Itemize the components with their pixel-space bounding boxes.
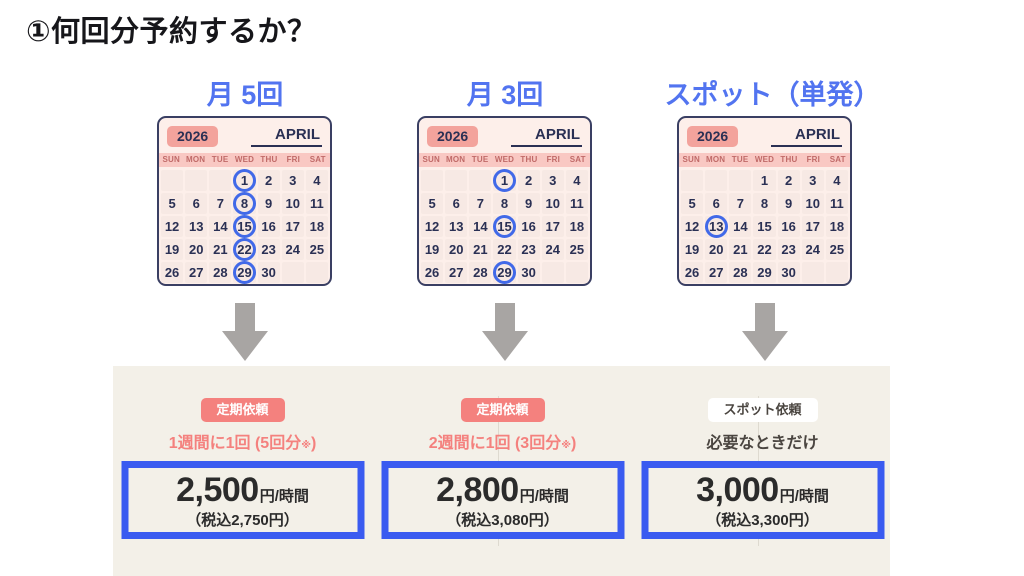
calendar-weekday: MON [703, 153, 727, 167]
calendar-day-number: 9 [525, 197, 532, 210]
calendar-day-cell[interactable]: 10 [542, 193, 564, 214]
calendar-day-number: 30 [781, 266, 795, 279]
calendar-day-grid: 1234567891011121314151617181920212223242… [159, 167, 330, 285]
calendar-day-number: 23 [781, 243, 795, 256]
calendar-day-cell[interactable]: 14 [469, 216, 491, 237]
calendar-day-number: 14 [473, 220, 487, 233]
calendar-year: 2026 [427, 126, 478, 147]
price-amount: 2,500 [176, 473, 259, 507]
calendar-day-cell[interactable]: 4 [826, 170, 848, 191]
price-inner: 3,000 円/時間 （税込3,300円） [648, 468, 877, 532]
calendar-month: APRIL [771, 127, 842, 147]
calendar-weekday: WED [752, 153, 776, 167]
calendar-day-number: 20 [709, 243, 723, 256]
calendar-day-number: 3 [809, 174, 816, 187]
calendar-day-cell[interactable]: 6 [445, 193, 467, 214]
calendar-weekday: FRI [281, 153, 305, 167]
calendar-day-cell[interactable]: 28 [209, 262, 231, 283]
calendar-day-number: 15 [757, 220, 771, 233]
calendar-day-number: 22 [497, 243, 511, 256]
calendar-day-number: 27 [709, 266, 723, 279]
plan-frequency-mark: ※ [561, 440, 571, 451]
calendar-day-number: 3 [289, 174, 296, 187]
calendar-day-number: 5 [168, 197, 175, 210]
price-tax-included: （税込3,080円） [446, 513, 559, 528]
price-box: 2,500 円/時間 （税込2,750円） [121, 461, 364, 539]
calendar-day-number: 9 [785, 197, 792, 210]
column-heading-2: スポット（単発） [650, 73, 895, 112]
calendar-day-number: 7 [217, 197, 224, 210]
calendar-day-cell[interactable]: 26 [161, 262, 183, 283]
calendar-day-number: 10 [806, 197, 820, 210]
calendar-day-cell[interactable]: 28 [469, 262, 491, 283]
calendar-day-cell[interactable]: 23 [258, 239, 280, 260]
calendar-day-number: 14 [733, 220, 747, 233]
calendar-day-cell[interactable]: 8 [753, 193, 775, 214]
price-tax-included: （税込2,750円） [186, 513, 299, 528]
calendar-day-number: 27 [189, 266, 203, 279]
calendar-day-cell[interactable]: 21 [209, 239, 231, 260]
calendar-day-cell[interactable]: 6 [705, 193, 727, 214]
calendar-month: APRIL [511, 127, 582, 147]
calendar-day-cell[interactable]: 25 [306, 239, 328, 260]
calendar-day-cell[interactable]: 8 [233, 193, 255, 214]
calendar-day-cell[interactable]: 12 [681, 216, 703, 237]
calendar-day-cell[interactable]: 18 [306, 216, 328, 237]
calendar-weekday: THU [777, 153, 801, 167]
calendar-day-cell[interactable]: 29 [753, 262, 775, 283]
calendar-empty-cell [729, 170, 751, 191]
calendar-day-number: 21 [473, 243, 487, 256]
calendar-day-number: 12 [165, 220, 179, 233]
price-tax-included: （税込3,300円） [706, 513, 819, 528]
calendar-day-cell[interactable]: 9 [518, 193, 540, 214]
calendar-weekday: MON [183, 153, 207, 167]
calendar-day-number: 2 [785, 174, 792, 187]
down-arrow-icon [742, 303, 788, 361]
calendar-day-grid: 1234567891011121314151617181920212223242… [679, 167, 850, 285]
calendar-weekday: THU [257, 153, 281, 167]
calendar-year: 2026 [687, 126, 738, 147]
calendar-day-number: 10 [546, 197, 560, 210]
calendar-day-number: 29 [237, 266, 251, 279]
calendar-day-cell[interactable]: 16 [778, 216, 800, 237]
plan-badge: スポット依頼 [707, 398, 817, 422]
calendar-0: 2026 APRIL SUNMONTUEWEDTHUFRISAT 1234567… [157, 116, 332, 286]
calendar-1: 2026 APRIL SUNMONTUEWEDTHUFRISAT 1234567… [417, 116, 592, 286]
calendar-day-number: 26 [685, 266, 699, 279]
calendar-day-cell[interactable]: 22 [233, 239, 255, 260]
calendar-day-cell[interactable]: 17 [802, 216, 824, 237]
calendar-day-number: 5 [688, 197, 695, 210]
calendar-weekday: WED [492, 153, 516, 167]
calendar-empty-cell [681, 170, 703, 191]
calendar-day-number: 2 [525, 174, 532, 187]
calendar-day-cell[interactable]: 5 [161, 193, 183, 214]
calendar-day-cell[interactable]: 8 [493, 193, 515, 214]
calendar-day-number: 1 [241, 174, 248, 187]
calendar-day-cell[interactable]: 7 [209, 193, 231, 214]
calendar-day-cell[interactable]: 4 [306, 170, 328, 191]
calendar-day-cell[interactable]: 2 [518, 170, 540, 191]
calendar-day-cell[interactable]: 11 [566, 193, 588, 214]
price-unit: 円/時間 [780, 489, 829, 504]
calendar-day-number: 18 [570, 220, 584, 233]
calendar-day-number: 8 [761, 197, 768, 210]
calendar-empty-cell [445, 170, 467, 191]
calendar-day-number: 27 [449, 266, 463, 279]
calendar-day-cell[interactable]: 27 [445, 262, 467, 283]
price-inner: 2,800 円/時間 （税込3,080円） [388, 468, 617, 532]
calendar-day-number: 29 [757, 266, 771, 279]
calendar-weekday: SUN [419, 153, 443, 167]
calendar-day-cell[interactable]: 23 [778, 239, 800, 260]
calendar-day-number: 17 [286, 220, 300, 233]
pricing-plan-0: 定期依頼 1週間に1回 (5回分※) 2,500 円/時間 （税込2,750円） [113, 366, 372, 576]
price-amount: 3,000 [696, 473, 779, 507]
calendar-day-cell[interactable]: 12 [421, 216, 443, 237]
calendar-empty-cell [421, 170, 443, 191]
calendar-day-number: 10 [286, 197, 300, 210]
calendar-day-cell[interactable]: 11 [826, 193, 848, 214]
calendar-day-number: 13 [709, 220, 723, 233]
calendar-day-cell[interactable]: 10 [282, 193, 304, 214]
calendar-day-cell[interactable]: 15 [753, 216, 775, 237]
price-unit: 円/時間 [520, 489, 569, 504]
calendar-day-number: 26 [425, 266, 439, 279]
plan-frequency: 1週間に1回 (5回分※) [113, 436, 372, 452]
calendar-day-cell[interactable]: 25 [826, 239, 848, 260]
calendar-day-cell[interactable]: 15 [493, 216, 515, 237]
calendar-day-cell[interactable]: 28 [729, 262, 751, 283]
calendar-day-cell[interactable]: 12 [161, 216, 183, 237]
calendar-day-cell[interactable]: 7 [469, 193, 491, 214]
calendar-day-cell[interactable]: 9 [258, 193, 280, 214]
calendar-day-number: 23 [521, 243, 535, 256]
plan-frequency-text: 2週間に1回 (3回分 [429, 435, 561, 452]
calendar-day-cell[interactable]: 17 [542, 216, 564, 237]
calendar-day-cell[interactable]: 30 [258, 262, 280, 283]
calendar-day-cell[interactable]: 2 [778, 170, 800, 191]
calendar-day-cell[interactable]: 27 [705, 262, 727, 283]
calendar-weekday: SUN [159, 153, 183, 167]
calendar-day-cell[interactable]: 27 [185, 262, 207, 283]
calendar-day-number: 8 [241, 197, 248, 210]
calendar-weekday-row: SUNMONTUEWEDTHUFRISAT [419, 153, 590, 167]
calendar-weekday-row: SUNMONTUEWEDTHUFRISAT [159, 153, 330, 167]
calendar-day-cell[interactable]: 18 [826, 216, 848, 237]
calendar-day-number: 6 [713, 197, 720, 210]
calendar-weekday: SAT [826, 153, 850, 167]
calendar-day-number: 1 [761, 174, 768, 187]
calendar-day-cell[interactable]: 24 [542, 239, 564, 260]
calendar-day-cell[interactable]: 21 [729, 239, 751, 260]
calendar-day-number: 24 [286, 243, 300, 256]
plan-frequency-text: 必要なときだけ [706, 435, 818, 452]
calendar-header: 2026 APRIL [159, 118, 330, 150]
calendar-day-number: 13 [449, 220, 463, 233]
calendar-day-cell[interactable]: 13 [445, 216, 467, 237]
page-title: ①何回分予約するか？ [26, 8, 317, 50]
calendar-day-cell[interactable]: 20 [445, 239, 467, 260]
calendar-day-cell[interactable]: 30 [518, 262, 540, 283]
calendar-day-cell[interactable]: 18 [566, 216, 588, 237]
calendar-header: 2026 APRIL [419, 118, 590, 150]
calendar-empty-cell [542, 262, 564, 283]
calendar-weekday: SUN [679, 153, 703, 167]
pricing-panel: 定期依頼 1週間に1回 (5回分※) 2,500 円/時間 （税込2,750円）… [113, 366, 890, 576]
price-main: 2,500 円/時間 [176, 473, 309, 507]
calendar-day-cell[interactable]: 20 [185, 239, 207, 260]
column-heading-0: 月 5回 [155, 73, 335, 112]
calendar-day-number: 25 [570, 243, 584, 256]
calendar-day-number: 22 [237, 243, 251, 256]
calendar-day-cell[interactable]: 9 [778, 193, 800, 214]
calendar-day-cell[interactable]: 26 [421, 262, 443, 283]
calendar-day-cell[interactable]: 1 [493, 170, 515, 191]
calendar-day-cell[interactable]: 14 [729, 216, 751, 237]
down-arrow-icon [222, 303, 268, 361]
calendar-day-cell[interactable]: 24 [282, 239, 304, 260]
calendar-day-number: 6 [193, 197, 200, 210]
calendar-day-number: 17 [806, 220, 820, 233]
calendar-day-number: 3 [549, 174, 556, 187]
calendar-day-number: 11 [310, 197, 324, 210]
calendar-day-cell[interactable]: 10 [802, 193, 824, 214]
column-heading-1: 月 3回 [415, 73, 595, 112]
calendar-day-number: 17 [546, 220, 560, 233]
calendar-day-cell[interactable]: 3 [802, 170, 824, 191]
calendar-weekday-row: SUNMONTUEWEDTHUFRISAT [679, 153, 850, 167]
calendar-day-number: 25 [310, 243, 324, 256]
calendar-day-number: 25 [830, 243, 844, 256]
calendar-empty-cell [566, 262, 588, 283]
calendar-day-number: 16 [781, 220, 795, 233]
calendar-day-number: 21 [213, 243, 227, 256]
calendar-day-cell[interactable]: 1 [233, 170, 255, 191]
calendar-day-cell[interactable]: 25 [566, 239, 588, 260]
calendar-day-number: 30 [521, 266, 535, 279]
calendar-day-cell[interactable]: 13 [185, 216, 207, 237]
calendar-day-cell[interactable]: 16 [258, 216, 280, 237]
calendar-day-cell[interactable]: 7 [729, 193, 751, 214]
calendar-day-cell[interactable]: 17 [282, 216, 304, 237]
calendar-day-number: 1 [501, 174, 508, 187]
calendar-day-number: 4 [573, 174, 580, 187]
calendar-day-number: 9 [265, 197, 272, 210]
calendar-day-cell[interactable]: 19 [421, 239, 443, 260]
calendar-empty-cell [185, 170, 207, 191]
calendar-day-number: 29 [497, 266, 511, 279]
calendar-weekday: THU [517, 153, 541, 167]
calendar-day-number: 30 [261, 266, 275, 279]
plan-frequency-close: ) [311, 435, 316, 452]
pricing-plan-2: スポット依頼 必要なときだけ 3,000 円/時間 （税込3,300円） [633, 366, 892, 576]
plan-frequency-close: ) [571, 435, 576, 452]
calendar-day-cell[interactable]: 2 [258, 170, 280, 191]
calendar-day-number: 28 [733, 266, 747, 279]
plan-frequency: 2週間に1回 (3回分※) [373, 436, 632, 452]
calendar-day-number: 19 [685, 243, 699, 256]
calendar-day-cell[interactable]: 29 [493, 262, 515, 283]
calendar-day-cell[interactable]: 24 [802, 239, 824, 260]
calendar-day-number: 19 [165, 243, 179, 256]
plan-frequency-text: 1週間に1回 (5回分 [169, 435, 301, 452]
calendar-day-number: 18 [310, 220, 324, 233]
calendar-day-number: 5 [428, 197, 435, 210]
calendar-day-cell[interactable]: 20 [705, 239, 727, 260]
calendar-day-cell[interactable]: 3 [542, 170, 564, 191]
calendar-day-cell[interactable]: 14 [209, 216, 231, 237]
calendar-day-number: 4 [833, 174, 840, 187]
price-amount: 2,800 [436, 473, 519, 507]
calendar-day-cell[interactable]: 19 [161, 239, 183, 260]
calendar-day-cell[interactable]: 30 [778, 262, 800, 283]
calendar-weekday: FRI [801, 153, 825, 167]
calendar-2: 2026 APRIL SUNMONTUEWEDTHUFRISAT 1234567… [677, 116, 852, 286]
plan-badge: 定期依頼 [200, 398, 284, 422]
calendar-day-number: 7 [737, 197, 744, 210]
calendar-day-cell[interactable]: 5 [681, 193, 703, 214]
down-arrow-icon [482, 303, 528, 361]
calendar-day-cell[interactable]: 16 [518, 216, 540, 237]
calendar-day-number: 20 [449, 243, 463, 256]
calendar-day-grid: 1234567891011121314151617181920212223242… [419, 167, 590, 285]
pricing-plan-1: 定期依頼 2週間に1回 (3回分※) 2,800 円/時間 （税込3,080円） [373, 366, 632, 576]
price-main: 3,000 円/時間 [696, 473, 829, 507]
calendar-year: 2026 [167, 126, 218, 147]
calendar-weekday: SAT [306, 153, 330, 167]
plan-frequency-mark: ※ [301, 440, 311, 451]
calendar-weekday: TUE [728, 153, 752, 167]
calendar-header: 2026 APRIL [679, 118, 850, 150]
price-main: 2,800 円/時間 [436, 473, 569, 507]
calendar-weekday: MON [443, 153, 467, 167]
calendar-day-number: 11 [830, 197, 844, 210]
calendar-day-number: 15 [497, 220, 511, 233]
calendar-day-number: 12 [425, 220, 439, 233]
calendar-day-cell[interactable]: 1 [753, 170, 775, 191]
plan-frequency: 必要なときだけ [633, 436, 892, 452]
calendar-empty-cell [209, 170, 231, 191]
calendar-day-number: 8 [501, 197, 508, 210]
calendar-day-number: 24 [806, 243, 820, 256]
calendar-day-number: 23 [261, 243, 275, 256]
slide-canvas: ①何回分予約するか？ 月 5回 月 3回 スポット（単発） 2026 APRIL… [0, 0, 1024, 576]
calendar-day-cell[interactable]: 22 [493, 239, 515, 260]
calendar-day-number: 22 [757, 243, 771, 256]
calendar-day-number: 4 [313, 174, 320, 187]
calendar-day-number: 2 [265, 174, 272, 187]
calendar-weekday: TUE [208, 153, 232, 167]
calendar-day-number: 28 [473, 266, 487, 279]
price-unit: 円/時間 [260, 489, 309, 504]
calendar-day-number: 19 [425, 243, 439, 256]
calendar-weekday: TUE [468, 153, 492, 167]
calendar-empty-cell [826, 262, 848, 283]
calendar-day-number: 12 [685, 220, 699, 233]
calendar-empty-cell [802, 262, 824, 283]
calendar-day-cell[interactable]: 23 [518, 239, 540, 260]
calendar-day-number: 26 [165, 266, 179, 279]
calendar-day-cell[interactable]: 22 [753, 239, 775, 260]
calendar-day-cell[interactable]: 4 [566, 170, 588, 191]
plan-badge: 定期依頼 [460, 398, 544, 422]
calendar-day-cell[interactable]: 15 [233, 216, 255, 237]
calendar-day-number: 24 [546, 243, 560, 256]
calendar-weekday: SAT [566, 153, 590, 167]
calendar-day-number: 14 [213, 220, 227, 233]
price-box: 3,000 円/時間 （税込3,300円） [641, 461, 884, 539]
calendar-day-number: 11 [570, 197, 584, 210]
calendar-day-number: 16 [521, 220, 535, 233]
price-box: 2,800 円/時間 （税込3,080円） [381, 461, 624, 539]
calendar-day-cell[interactable]: 19 [681, 239, 703, 260]
calendar-empty-cell [705, 170, 727, 191]
calendar-day-number: 6 [453, 197, 460, 210]
calendar-day-number: 18 [830, 220, 844, 233]
calendar-day-cell[interactable]: 6 [185, 193, 207, 214]
calendar-day-cell[interactable]: 21 [469, 239, 491, 260]
calendar-day-number: 13 [189, 220, 203, 233]
calendar-empty-cell [469, 170, 491, 191]
calendar-day-cell[interactable]: 3 [282, 170, 304, 191]
calendar-day-number: 7 [477, 197, 484, 210]
calendar-empty-cell [161, 170, 183, 191]
calendar-empty-cell [306, 262, 328, 283]
calendar-day-number: 28 [213, 266, 227, 279]
calendar-empty-cell [282, 262, 304, 283]
calendar-weekday: WED [232, 153, 256, 167]
calendar-day-number: 21 [733, 243, 747, 256]
calendar-weekday: FRI [541, 153, 565, 167]
calendar-month: APRIL [251, 127, 322, 147]
calendar-day-cell[interactable]: 11 [306, 193, 328, 214]
calendar-day-number: 16 [261, 220, 275, 233]
calendar-day-cell[interactable]: 29 [233, 262, 255, 283]
calendar-day-cell[interactable]: 13 [705, 216, 727, 237]
calendar-day-number: 15 [237, 220, 251, 233]
price-inner: 2,500 円/時間 （税込2,750円） [128, 468, 357, 532]
calendar-day-number: 20 [189, 243, 203, 256]
calendar-day-cell[interactable]: 26 [681, 262, 703, 283]
calendar-day-cell[interactable]: 5 [421, 193, 443, 214]
